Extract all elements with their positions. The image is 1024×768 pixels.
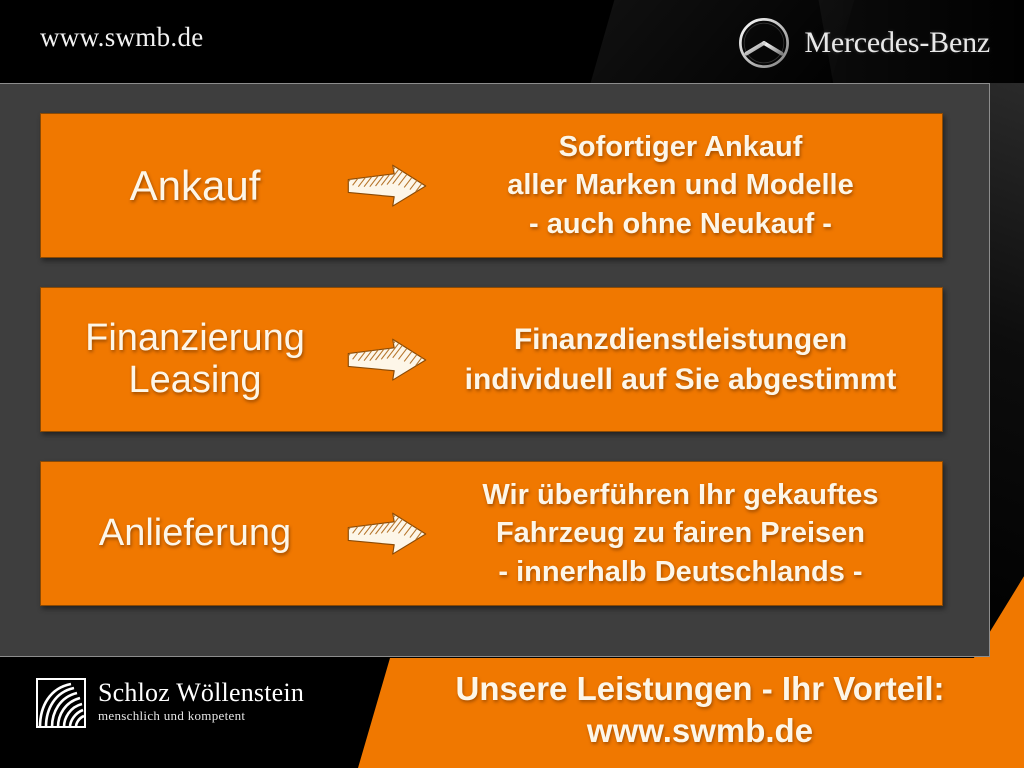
slide-header: www.swmb.de [0, 0, 1024, 83]
sketch-arrow-right-icon [341, 161, 433, 211]
service-description-finanzierung-leasing: Finanzdienstleistungen individuell auf S… [433, 320, 942, 399]
service-description-ankauf: Sofortiger Ankauf aller Marken und Model… [433, 128, 942, 243]
dealer-name-block: Schloz Wöllenstein menschlich und kompet… [98, 678, 304, 724]
desc-line: Wir überführen Ihr gekauftes [433, 476, 928, 514]
dealer-name: Schloz Wöllenstein [98, 679, 304, 706]
header-site-url: www.swmb.de [40, 22, 204, 53]
service-row-finanzierung-leasing[interactable]: Finanzierung Leasing [40, 287, 943, 432]
title-line: Leasing [128, 359, 261, 401]
desc-line: aller Marken und Modelle [433, 166, 928, 204]
presentation-slide: www.swmb.de [0, 0, 1024, 768]
mercedes-benz-brand-lockup: Mercedes-Benz [737, 16, 990, 70]
services-list: Ankauf [40, 113, 943, 606]
desc-line: Sofortiger Ankauf [433, 128, 928, 166]
service-title-finanzierung-leasing: Finanzierung Leasing [41, 318, 341, 400]
service-title-ankauf: Ankauf [41, 163, 341, 208]
desc-line: Finanzdienstleistungen [433, 320, 928, 360]
road-lines-logo-icon [36, 678, 86, 728]
footer-headline: Unsere Leistungen - Ihr Vorteil: www.swm… [400, 668, 1000, 752]
service-description-anlieferung: Wir überführen Ihr gekauftes Fahrzeug zu… [433, 476, 942, 591]
desc-line: Fahrzeug zu fairen Preisen [433, 514, 928, 552]
dealer-logo-lockup: Schloz Wöllenstein menschlich und kompet… [36, 678, 304, 728]
mercedes-benz-wordmark: Mercedes-Benz [804, 26, 990, 60]
desc-line: - innerhalb Deutschlands - [433, 553, 928, 591]
footer-headline-line: Unsere Leistungen - Ihr Vorteil: [400, 668, 1000, 710]
content-panel: Ankauf [0, 83, 990, 657]
sketch-arrow-right-icon [341, 335, 433, 385]
desc-line: individuell auf Sie abgestimmt [433, 360, 928, 400]
footer-site-url: www.swmb.de [400, 710, 1000, 752]
service-row-anlieferung[interactable]: Anlieferung [40, 461, 943, 606]
sketch-arrow-right-icon [341, 509, 433, 559]
title-line: Finanzierung [85, 317, 305, 359]
service-row-ankauf[interactable]: Ankauf [40, 113, 943, 258]
service-title-anlieferung: Anlieferung [41, 513, 341, 554]
dealer-tagline: menschlich und kompetent [98, 708, 304, 724]
mercedes-star-icon [737, 16, 791, 70]
right-dark-column [990, 83, 1024, 658]
desc-line: - auch ohne Neukauf - [433, 205, 928, 243]
